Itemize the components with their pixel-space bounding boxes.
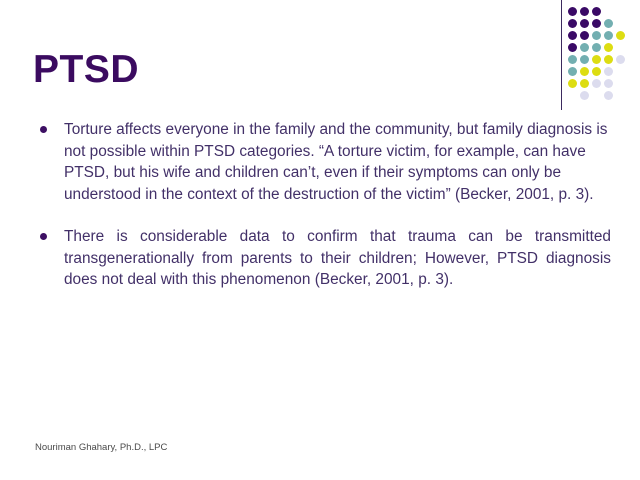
dot-purple xyxy=(592,19,601,28)
dot-yellow xyxy=(580,79,589,88)
dot-teal xyxy=(604,31,613,40)
dot-grid-row xyxy=(568,91,628,103)
dot-purple xyxy=(568,31,577,40)
dot-none xyxy=(616,79,625,88)
dot-grid-row xyxy=(568,79,628,91)
dot-grid-icon xyxy=(568,7,628,103)
vertical-rule xyxy=(561,0,562,110)
dot-grid-row xyxy=(568,67,628,79)
list-item: Torture affects everyone in the family a… xyxy=(31,119,611,205)
dot-none xyxy=(568,91,577,100)
dot-grid-row xyxy=(568,55,628,67)
bullet-point-icon xyxy=(40,126,47,133)
list-item-text: Torture affects everyone in the family a… xyxy=(64,119,611,205)
list-item: There is considerable data to confirm th… xyxy=(31,226,611,291)
dot-none xyxy=(604,7,613,16)
dot-teal xyxy=(568,67,577,76)
dot-purple xyxy=(580,19,589,28)
dot-none xyxy=(616,67,625,76)
dot-lavender xyxy=(604,79,613,88)
dot-yellow xyxy=(604,55,613,64)
dot-none xyxy=(616,43,625,52)
dot-yellow xyxy=(616,31,625,40)
dot-none xyxy=(616,91,625,100)
dot-yellow xyxy=(604,43,613,52)
dot-grid-row xyxy=(568,31,628,43)
dot-yellow xyxy=(568,79,577,88)
dot-purple xyxy=(568,19,577,28)
dot-purple xyxy=(580,31,589,40)
page-title: PTSD xyxy=(33,48,139,92)
slide-canvas: PTSD Torture affects everyone in the fam… xyxy=(0,0,640,480)
dot-teal xyxy=(580,55,589,64)
dot-lavender xyxy=(580,91,589,100)
dot-lavender xyxy=(604,67,613,76)
dot-teal xyxy=(592,31,601,40)
dot-yellow xyxy=(580,67,589,76)
dot-none xyxy=(592,91,601,100)
dot-yellow xyxy=(592,55,601,64)
dot-lavender xyxy=(616,55,625,64)
dot-none xyxy=(616,7,625,16)
dot-purple xyxy=(568,7,577,16)
dot-grid-row xyxy=(568,43,628,55)
dot-grid-row xyxy=(568,19,628,31)
dot-lavender xyxy=(592,79,601,88)
dot-teal xyxy=(604,19,613,28)
list-item-text: There is considerable data to confirm th… xyxy=(64,226,611,291)
dot-teal xyxy=(568,55,577,64)
corner-decoration xyxy=(552,0,640,112)
bullet-point-icon xyxy=(40,233,47,240)
footer-attribution: Nouriman Ghahary, Ph.D., LPC xyxy=(35,441,167,454)
dot-purple xyxy=(592,7,601,16)
dot-yellow xyxy=(592,67,601,76)
dot-grid-row xyxy=(568,7,628,19)
dot-none xyxy=(616,19,625,28)
bullet-list: Torture affects everyone in the family a… xyxy=(31,119,611,291)
dot-teal xyxy=(580,43,589,52)
dot-teal xyxy=(592,43,601,52)
dot-lavender xyxy=(604,91,613,100)
dot-purple xyxy=(580,7,589,16)
dot-purple xyxy=(568,43,577,52)
